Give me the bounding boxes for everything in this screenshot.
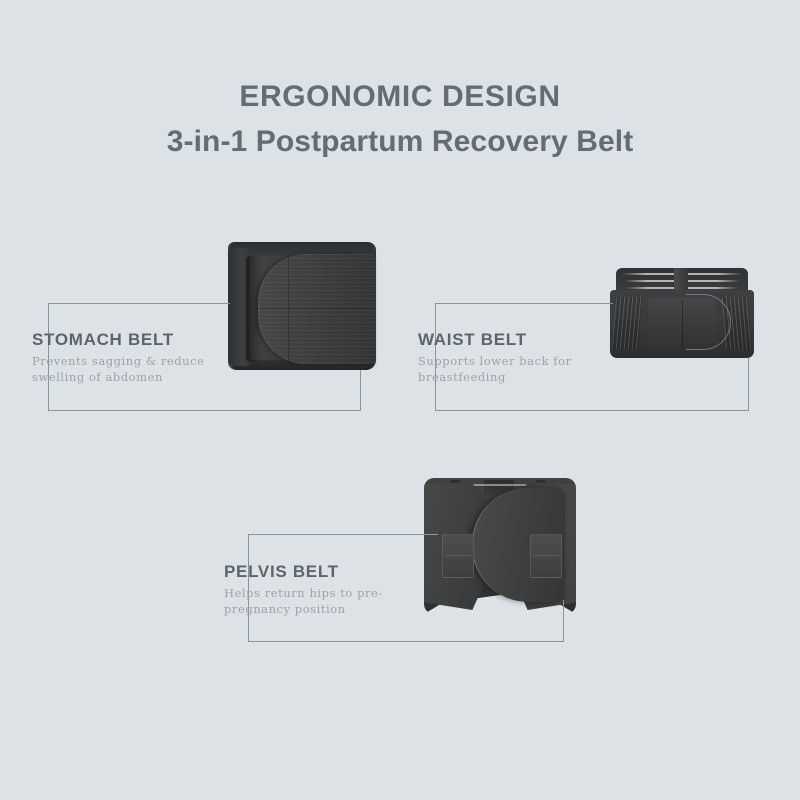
callout-stomach-description: Prevents sagging & reduce swelling of ab… [32, 354, 247, 386]
infographic-canvas: ERGONOMIC DESIGN 3-in-1 Postpartum Recov… [0, 0, 800, 800]
bracket-line-right [748, 358, 749, 411]
pelvis-belt-velcro-left [442, 534, 474, 578]
stomach-belt-image [228, 242, 376, 370]
title-secondary: 3-in-1 Postpartum Recovery Belt [0, 122, 800, 163]
callout-waist-title: WAIST BELT [418, 330, 633, 350]
bracket-line-top [248, 534, 438, 535]
callout-waist: WAIST BELT Supports lower back for breas… [418, 330, 633, 386]
bracket-line-top [435, 303, 613, 304]
stomach-belt-seam-vertical [288, 256, 289, 362]
bracket-line-right [563, 600, 564, 642]
bracket-line-top [48, 303, 230, 304]
callout-waist-description: Supports lower back for breastfeeding [418, 354, 633, 386]
callout-pelvis: PELVIS BELT Helps return hips to pre-pre… [224, 562, 439, 618]
callout-pelvis-title: PELVIS BELT [224, 562, 439, 582]
page-title: ERGONOMIC DESIGN 3-in-1 Postpartum Recov… [0, 78, 800, 162]
stomach-belt-flap [258, 254, 376, 364]
pelvis-belt-velcro-line [445, 555, 471, 556]
callout-stomach: STOMACH BELT Prevents sagging & reduce s… [32, 330, 247, 386]
callout-stomach-title: STOMACH BELT [32, 330, 247, 350]
callout-pelvis-description: Helps return hips to pre-pregnancy posit… [224, 586, 439, 618]
waist-belt-center-seam [682, 300, 683, 348]
stomach-belt-seam-horizontal [260, 308, 374, 309]
pelvis-belt-image [424, 478, 576, 614]
bracket-line-bottom [48, 410, 361, 411]
title-primary: ERGONOMIC DESIGN [0, 78, 800, 116]
bracket-line-bottom [435, 410, 749, 411]
pelvis-belt-velcro-line [533, 555, 559, 556]
bracket-line-right [360, 370, 361, 411]
pelvis-belt-velcro-right [530, 534, 562, 578]
bracket-line-bottom [248, 641, 564, 642]
